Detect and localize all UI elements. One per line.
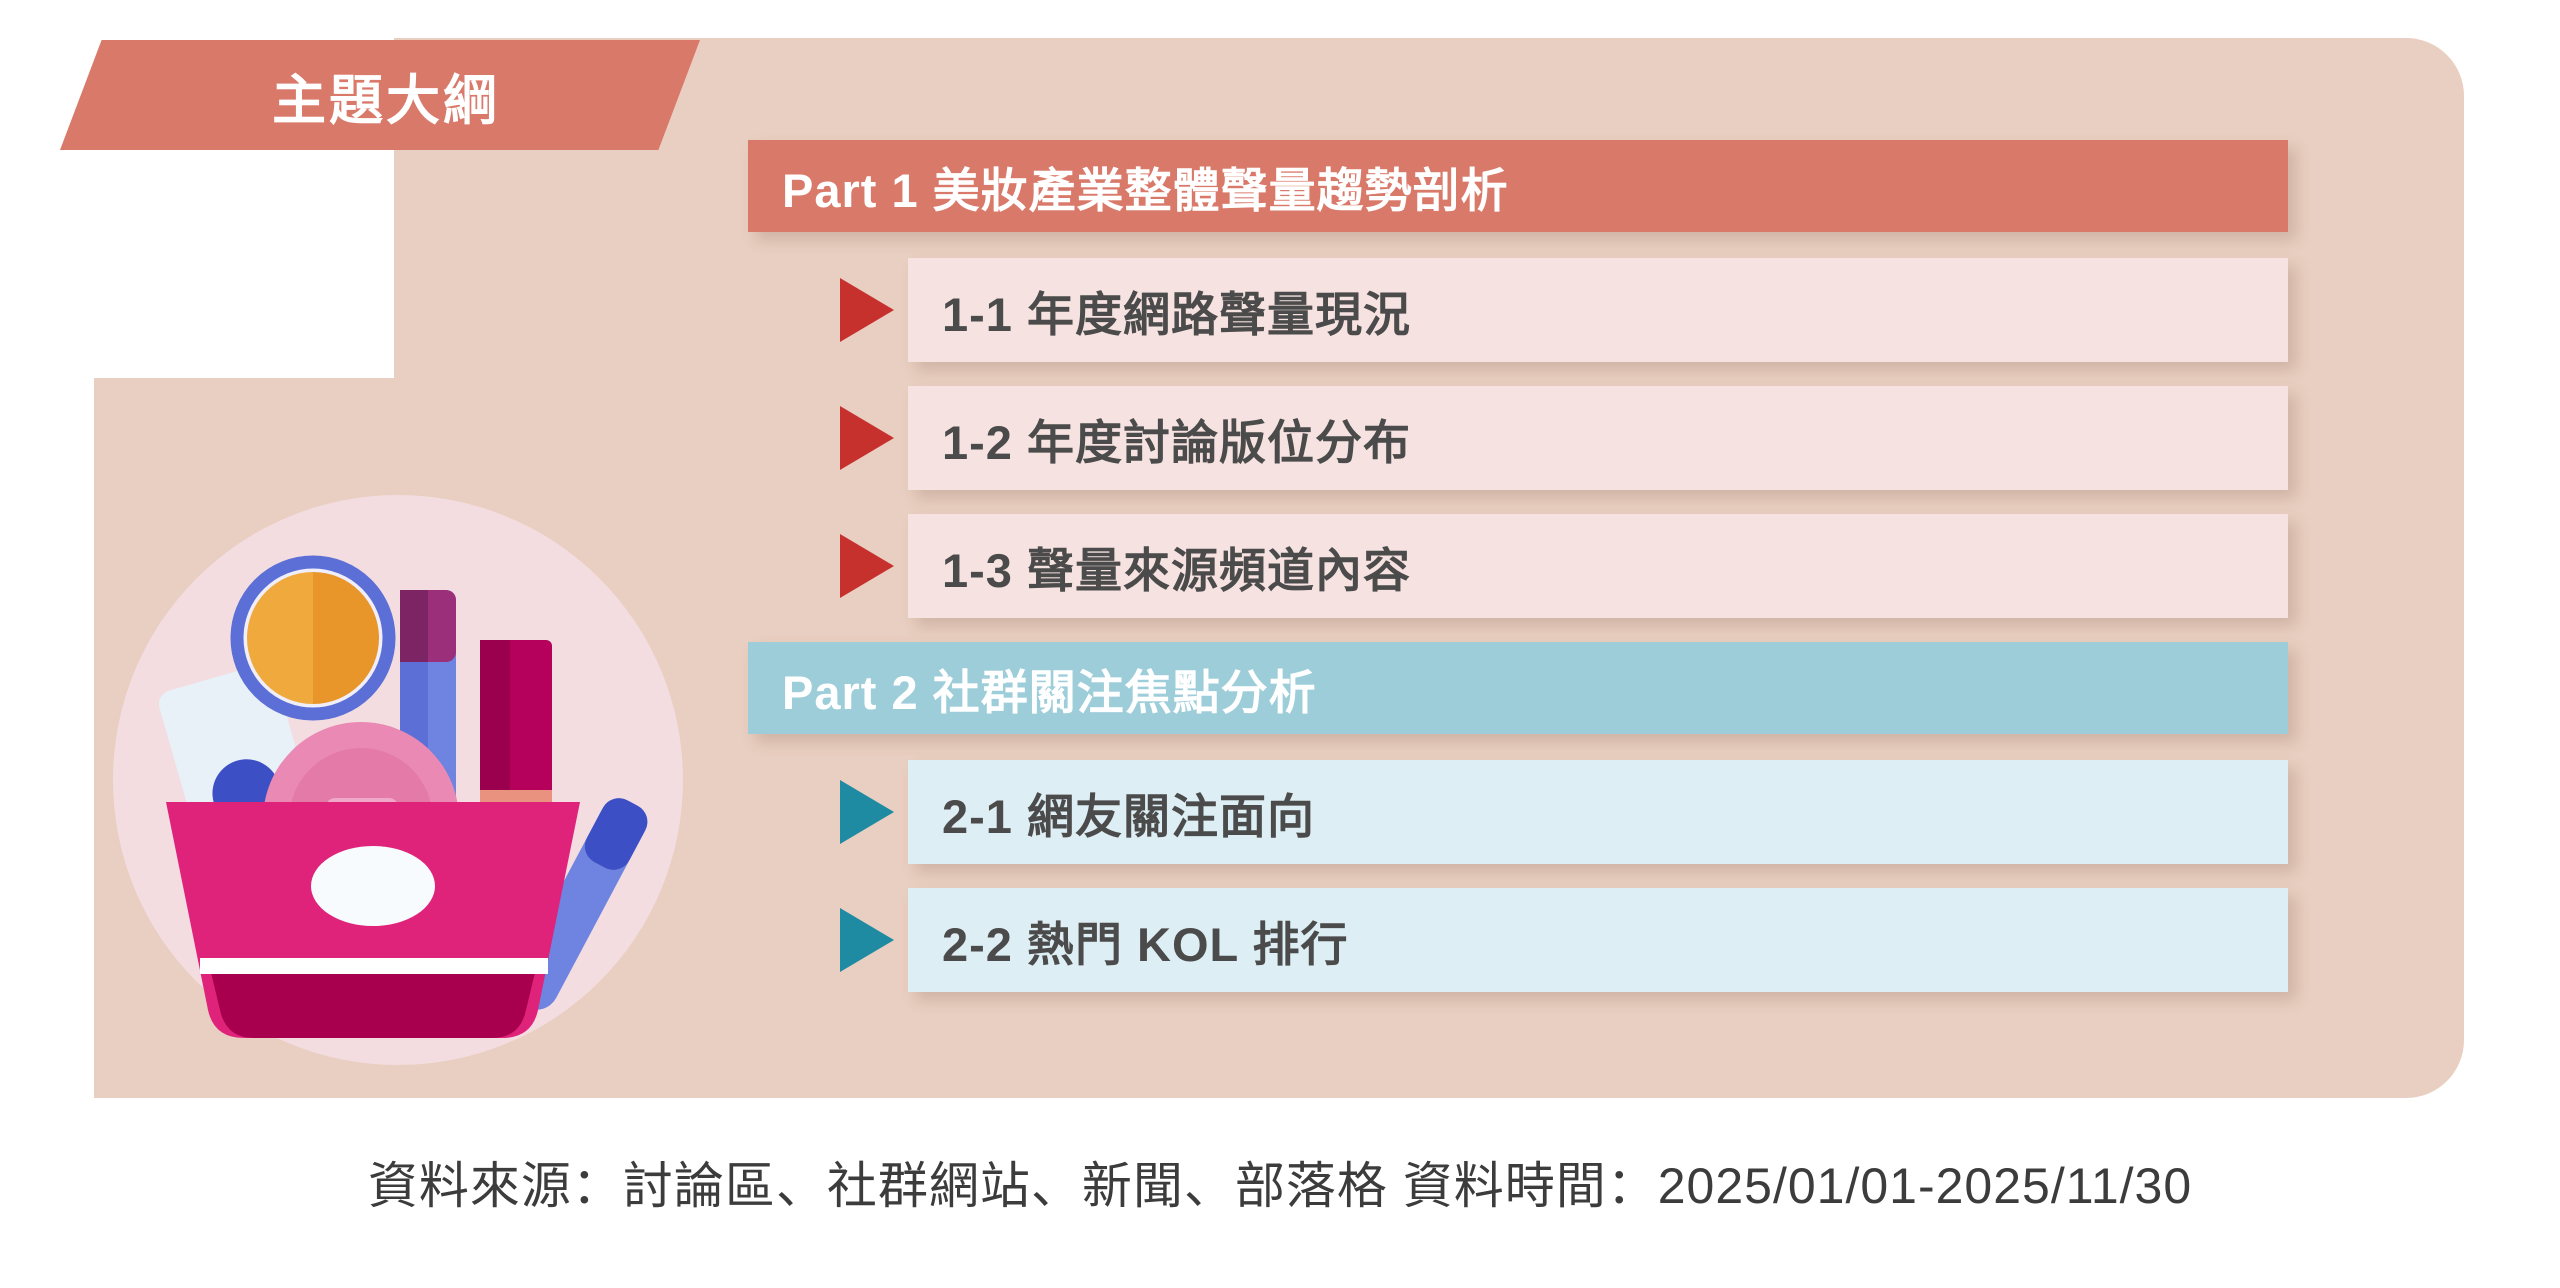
triangle-marker-icon (840, 534, 894, 598)
triangle-marker-icon (840, 908, 894, 972)
cosmetics-basket-icon (166, 802, 580, 1038)
outline-row-label: 1-2 年度討論版位分布 (942, 404, 1411, 473)
outline-row-2-2[interactable]: 2-2 熱門 KOL 排行 (908, 888, 2288, 992)
data-source-footer: 資料來源：討論區、社群網站、新聞、部落格 資料時間：2025/01/01-202… (0, 1146, 2560, 1218)
outline-row-part-1[interactable]: Part 1 美妝產業整體聲量趨勢剖析 (748, 140, 2288, 232)
triangle-marker-icon (840, 406, 894, 470)
triangle-marker-icon (840, 780, 894, 844)
outline-row-label: Part 2 社群關注焦點分析 (782, 654, 1317, 723)
outline-row-part-2[interactable]: Part 2 社群關注焦點分析 (748, 642, 2288, 734)
slide-title-banner: 主題大綱 (60, 40, 700, 150)
outline-row-label: 1-1 年度網路聲量現況 (942, 276, 1411, 345)
outline-row-1-3[interactable]: 1-3 聲量來源頻道內容 (908, 514, 2288, 618)
page-title: 主題大綱 (272, 56, 500, 135)
outline-row-label: 2-1 網友關注面向 (942, 778, 1315, 847)
triangle-marker-icon (840, 278, 894, 342)
outline-row-label: 1-3 聲量來源頻道內容 (942, 532, 1411, 601)
powder-compact-icon (237, 562, 389, 714)
cosmetics-basket-illustration (108, 490, 728, 1070)
outline-row-2-1[interactable]: 2-1 網友關注面向 (908, 760, 2288, 864)
outline-row-1-1[interactable]: 1-1 年度網路聲量現況 (908, 258, 2288, 362)
outline-row-label: 2-2 熱門 KOL 排行 (942, 906, 1348, 975)
outline-row-label: Part 1 美妝產業整體聲量趨勢剖析 (782, 152, 1509, 221)
outline-row-1-2[interactable]: 1-2 年度討論版位分布 (908, 386, 2288, 490)
outline-rows-list: Part 1 美妝產業整體聲量趨勢剖析 1-1 年度網路聲量現況 1-2 年度討… (748, 140, 2328, 992)
